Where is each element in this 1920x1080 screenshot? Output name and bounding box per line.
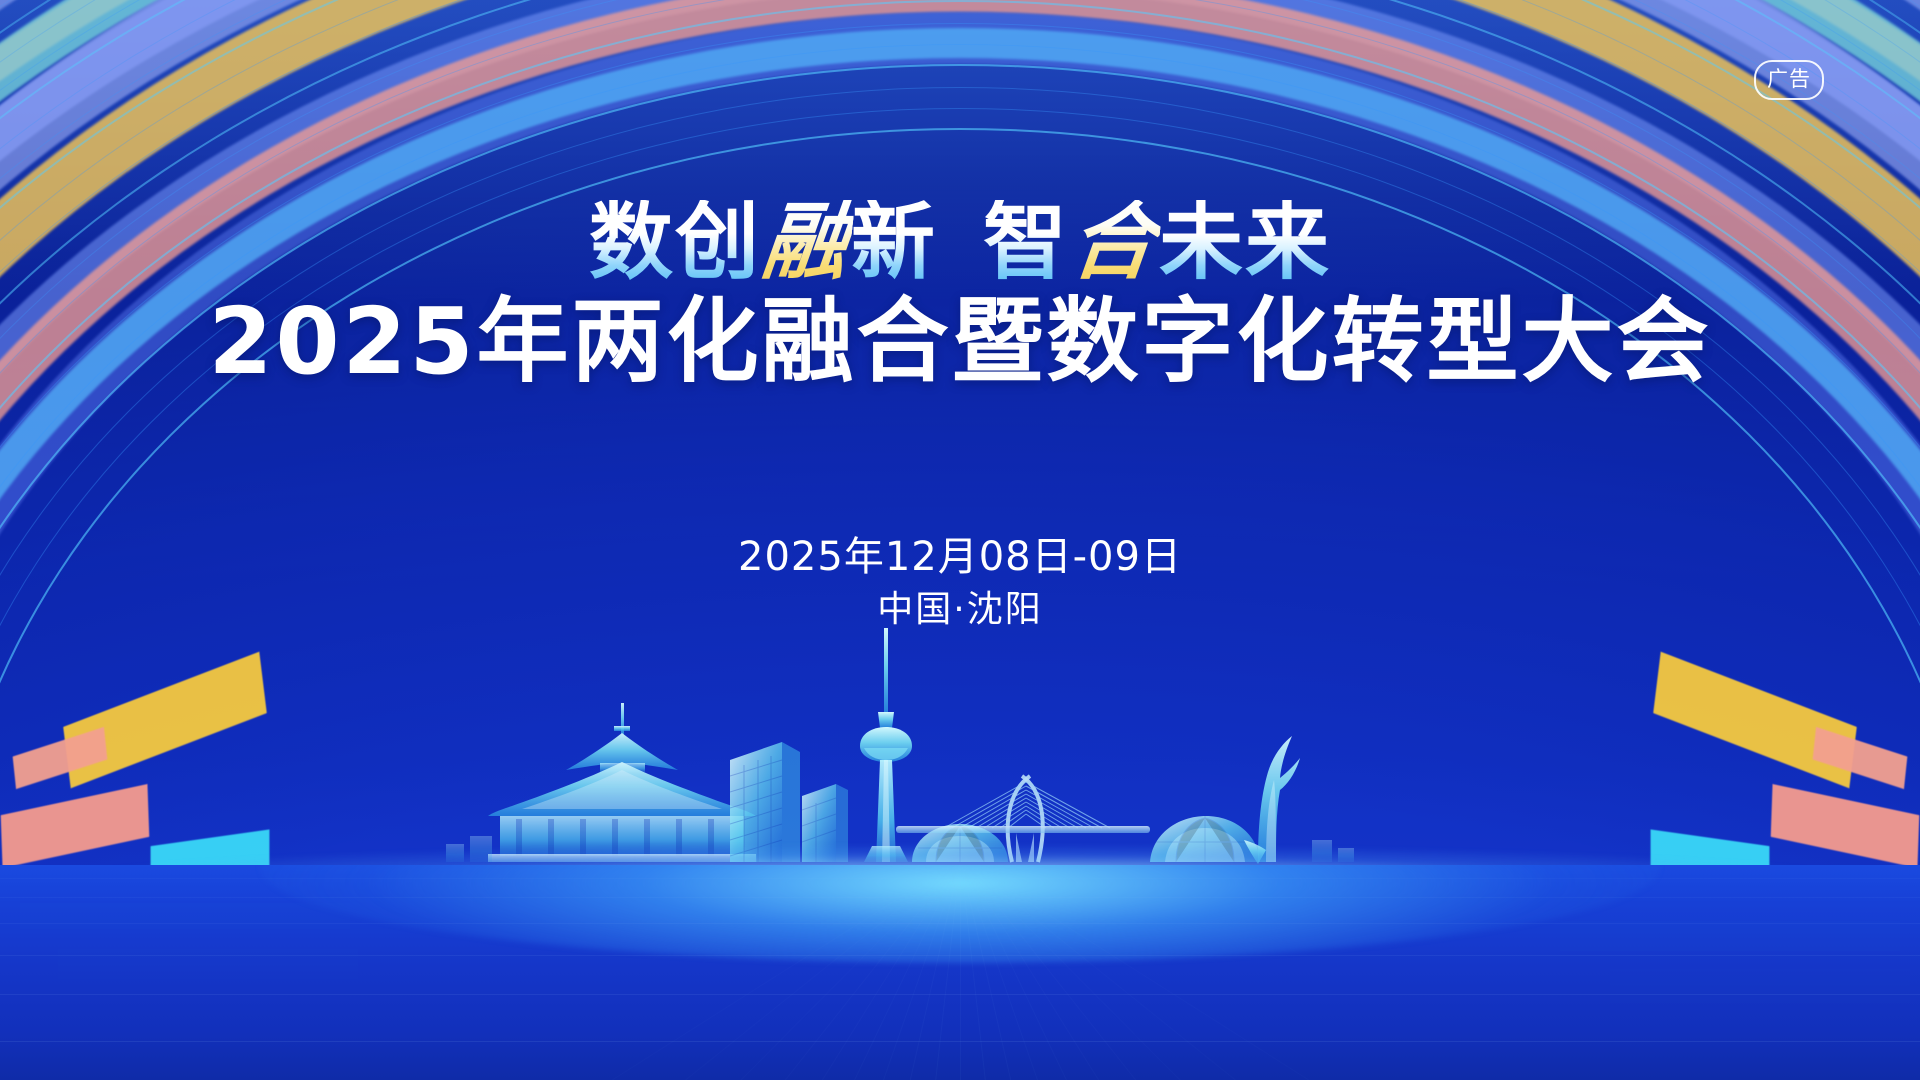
tagline-part-3: 新	[851, 200, 937, 284]
ground-grid-floor	[0, 865, 1920, 1080]
event-location: 中国·沈阳	[0, 584, 1920, 636]
tagline-part-6: 未来	[1159, 200, 1331, 284]
tagline: 数创融新智合未来	[0, 200, 1920, 284]
conference-title: 2025年两化融合暨数字化转型大会	[0, 296, 1920, 388]
ad-badge[interactable]: 广告	[1754, 60, 1824, 100]
tagline-part-2: 融	[757, 200, 856, 284]
tagline-part-1: 数创	[589, 200, 761, 284]
event-meta: 2025年12月08日-09日 中国·沈阳	[0, 530, 1920, 636]
banner-canvas: 广告 数创融新智合未来 2025年两化融合暨数字化转型大会 2025年12月08…	[0, 0, 1920, 1080]
tagline-part-5: 合	[1065, 200, 1164, 284]
event-date: 2025年12月08日-09日	[0, 530, 1920, 584]
tagline-part-4: 智	[983, 200, 1069, 284]
